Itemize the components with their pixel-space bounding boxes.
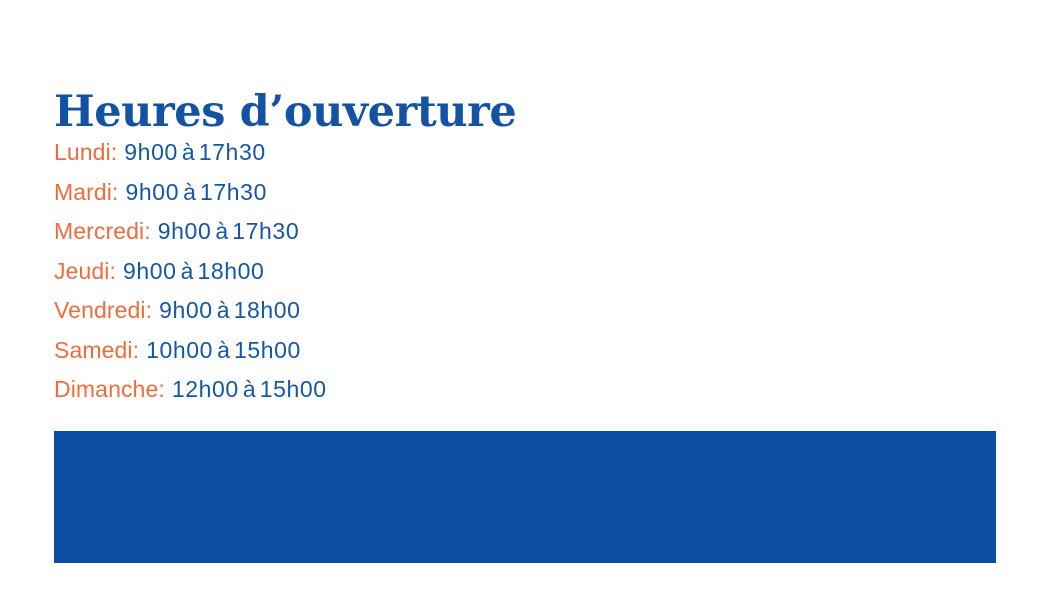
closing-time: 17h30 bbox=[232, 218, 299, 244]
day-label: Mercredi bbox=[54, 218, 144, 244]
slide-canvas: Heures d’ouverture Lundi:9h00à17h30Mardi… bbox=[0, 0, 1050, 600]
hours-row: Lundi:9h00à17h30 bbox=[54, 133, 754, 173]
time-range-separator: à bbox=[178, 139, 199, 165]
day-label: Dimanche bbox=[54, 376, 158, 402]
day-label: Vendredi bbox=[54, 297, 146, 323]
closing-time: 17h30 bbox=[200, 179, 267, 205]
opening-hours-list: Lundi:9h00à17h30Mardi:9h00à17h30Mercredi… bbox=[54, 133, 754, 410]
opening-time: 9h00 bbox=[159, 297, 213, 323]
time-range-separator: à bbox=[211, 218, 232, 244]
hours-row: Samedi:10h00à15h00 bbox=[54, 331, 754, 371]
time-range-separator: à bbox=[179, 179, 200, 205]
hours-row: Mardi:9h00à17h30 bbox=[54, 173, 754, 213]
day-colon: : bbox=[158, 376, 165, 402]
time-range-separator: à bbox=[177, 258, 198, 284]
day-label: Lundi bbox=[54, 139, 111, 165]
day-label: Samedi bbox=[54, 337, 133, 363]
bottom-color-band bbox=[54, 431, 996, 563]
day-label: Mardi bbox=[54, 179, 112, 205]
time-range-separator: à bbox=[213, 337, 234, 363]
opening-time: 9h00 bbox=[123, 258, 177, 284]
opening-time: 9h00 bbox=[126, 179, 180, 205]
closing-time: 15h00 bbox=[260, 376, 327, 402]
day-colon: : bbox=[144, 218, 151, 244]
time-range-separator: à bbox=[239, 376, 260, 402]
opening-time: 9h00 bbox=[158, 218, 212, 244]
time-range-separator: à bbox=[213, 297, 234, 323]
opening-time: 9h00 bbox=[124, 139, 178, 165]
hours-row: Mercredi:9h00à17h30 bbox=[54, 212, 754, 252]
opening-time: 12h00 bbox=[172, 376, 239, 402]
closing-time: 15h00 bbox=[234, 337, 301, 363]
opening-time: 10h00 bbox=[146, 337, 213, 363]
day-colon: : bbox=[146, 297, 153, 323]
day-colon: : bbox=[112, 179, 119, 205]
day-label: Jeudi bbox=[54, 258, 109, 284]
closing-time: 18h00 bbox=[234, 297, 301, 323]
closing-time: 18h00 bbox=[197, 258, 264, 284]
day-colon: : bbox=[111, 139, 118, 165]
day-colon: : bbox=[109, 258, 116, 284]
hours-row: Jeudi:9h00à18h00 bbox=[54, 252, 754, 292]
closing-time: 17h30 bbox=[199, 139, 266, 165]
hours-row: Vendredi:9h00à18h00 bbox=[54, 291, 754, 331]
day-colon: : bbox=[133, 337, 140, 363]
page-title: Heures d’ouverture bbox=[54, 90, 516, 135]
hours-row: Dimanche:12h00à15h00 bbox=[54, 370, 754, 410]
